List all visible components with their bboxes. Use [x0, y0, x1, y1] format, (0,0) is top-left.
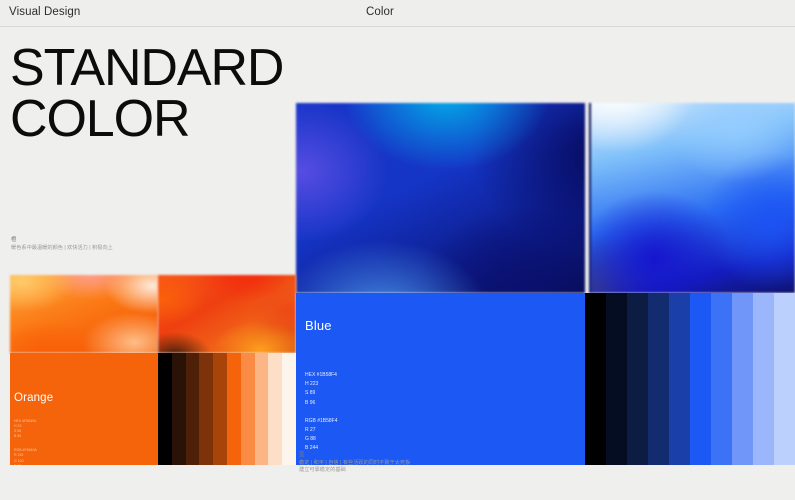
orange-tint-step-6: [227, 353, 241, 465]
orange-gradient-swatch-secondary: [158, 275, 296, 353]
blue-hex-value: HEX #1B58F4: [305, 371, 338, 380]
artboard: STANDARD COLOR 橙 暖色系中最温暖的颜色 | 欢快活力 | 积极向…: [0, 27, 795, 500]
blue-saturation-value: S 89: [305, 389, 338, 398]
blue-tint-step-9: [753, 293, 774, 465]
orange-brightness-value: B 96: [14, 434, 37, 439]
blue-green-value: G 88: [305, 435, 338, 444]
blue-tint-step-4: [648, 293, 669, 465]
orange-caption-line-1: 暖色系中最温暖的颜色 | 欢快活力 | 积极向上: [11, 245, 113, 253]
orange-tint-step-3: [186, 353, 200, 465]
top-toolbar: Visual Design Color: [0, 0, 795, 27]
orange-tint-step-10: [282, 353, 296, 465]
blue-swatch-label: Blue: [305, 318, 332, 333]
blue-tint-step-7: [711, 293, 732, 465]
orange-spec-readout: HEX #F5640A H 23 S 96 B 96 RGB #F5640A R…: [14, 419, 37, 478]
blue-caption: 蓝 稳定 | 和平 | 自信 | 有些活跃的同时不致于太死板 建立可靠稳定的基础: [299, 452, 410, 475]
blue-tint-step-8: [732, 293, 753, 465]
blue-gradient-swatch-primary: [296, 103, 585, 293]
orange-tint-step-2: [172, 353, 186, 465]
orange-blue-value: B 10: [14, 464, 37, 469]
orange-caption: 橙 暖色系中最温暖的颜色 | 欢快活力 | 积极向上: [11, 237, 113, 252]
blue-rgb-hex-value: RGB #1B58F4: [305, 417, 338, 426]
breadcrumb-color[interactable]: Color: [366, 6, 394, 18]
page-title: STANDARD COLOR: [10, 43, 283, 145]
blue-caption-head: 蓝: [299, 452, 410, 460]
breadcrumb-visual-design[interactable]: Visual Design: [9, 6, 80, 18]
blue-tint-scale: [585, 293, 795, 465]
blue-tint-step-3: [627, 293, 648, 465]
blue-spec-readout: HEX #1B58F4 H 223 S 89 B 96 RGB #1B58F4 …: [305, 371, 338, 463]
orange-tint-step-5: [213, 353, 227, 465]
blue-tint-step-6: [690, 293, 711, 465]
blue-rgb-group: RGB #1B58F4 R 27 G 88 B 244: [305, 417, 338, 454]
blue-tint-step-1: [585, 293, 606, 465]
blue-tint-step-10: [774, 293, 795, 465]
orange-gradient-swatch-primary: [10, 275, 158, 353]
blue-tint-step-2: [606, 293, 627, 465]
blue-red-value: R 27: [305, 426, 338, 435]
blue-tint-step-5: [669, 293, 690, 465]
orange-rgb-group: RGB #F5640A R 245 G 100 B 10: [14, 448, 37, 468]
blue-caption-line-2: 建立可靠稳定的基础: [299, 467, 410, 475]
blue-hue-value: H 223: [305, 380, 338, 389]
orange-tint-scale: [158, 353, 296, 465]
page-title-line-1: STANDARD: [10, 43, 283, 94]
blue-caption-line-1: 稳定 | 和平 | 自信 | 有些活跃的同时不致于太死板: [299, 460, 410, 468]
orange-tint-step-8: [255, 353, 269, 465]
orange-caption-head: 橙: [11, 237, 113, 245]
orange-tint-step-9: [268, 353, 282, 465]
blue-solid-swatch: [296, 293, 585, 465]
blue-hsb-group: HEX #1B58F4 H 223 S 89 B 96: [305, 371, 338, 408]
blue-gradient-swatch-secondary: [589, 103, 795, 293]
orange-tint-step-4: [199, 353, 213, 465]
orange-swatch-label: Orange: [14, 392, 53, 404]
orange-hsb-group: HEX #F5640A H 23 S 96 B 96: [14, 419, 37, 439]
page-title-line-2: COLOR: [10, 94, 283, 145]
orange-tint-step-7: [241, 353, 255, 465]
blue-brightness-value: B 96: [305, 399, 338, 408]
orange-tint-step-1: [158, 353, 172, 465]
